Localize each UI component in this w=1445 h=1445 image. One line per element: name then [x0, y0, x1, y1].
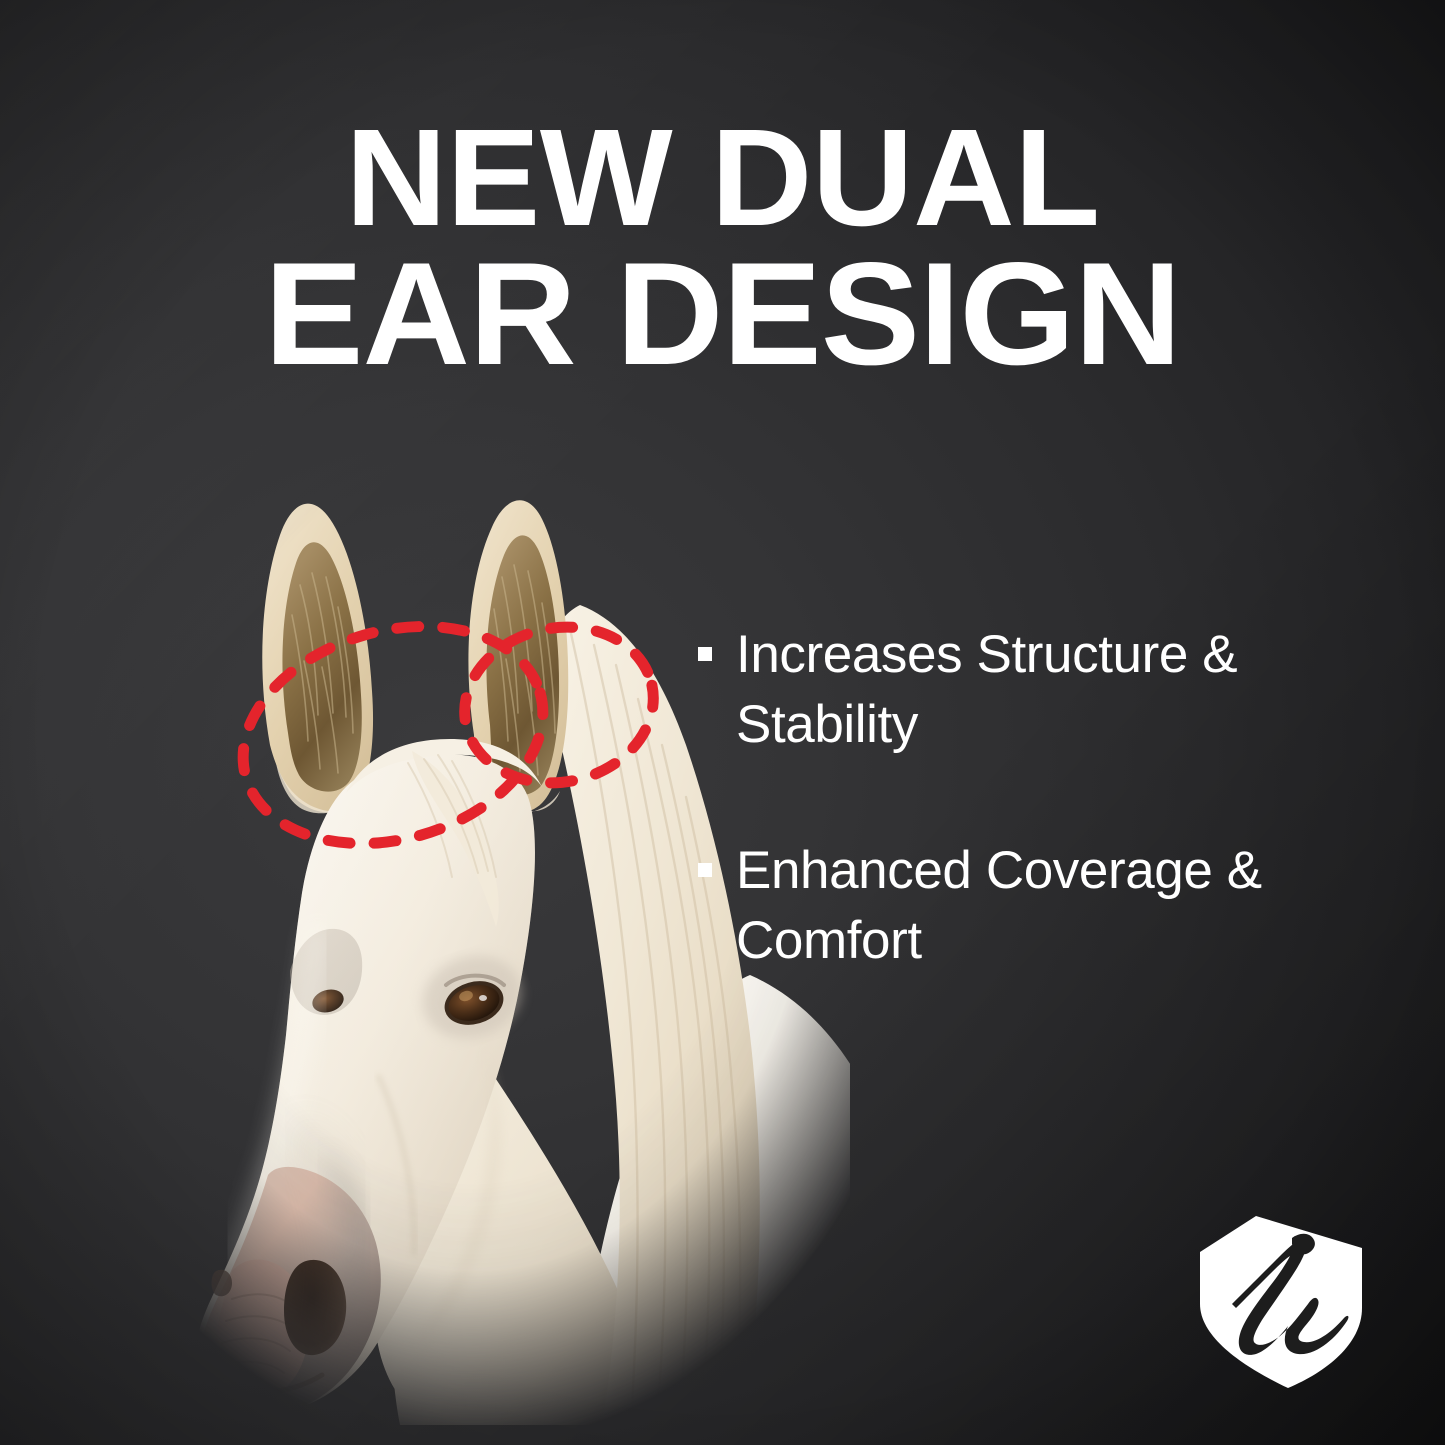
feature-text: Increases Structure & Stability — [736, 620, 1358, 760]
shield-shape — [1200, 1216, 1362, 1388]
list-item: Increases Structure & Stability — [698, 620, 1358, 760]
feature-text: Enhanced Coverage & Comfort — [736, 836, 1358, 976]
horse-ear-left — [262, 504, 373, 814]
page-title: NEW DUAL EAR DESIGN — [246, 112, 1200, 385]
feature-list: Increases Structure & Stability Enhanced… — [698, 620, 1358, 1052]
marketing-graphic: NEW DUAL EAR DESIGN — [0, 0, 1445, 1445]
brand-logo — [1196, 1212, 1366, 1390]
square-bullet-icon — [698, 647, 712, 661]
headline-line-2: EAR DESIGN — [246, 244, 1200, 384]
shield-logo-icon — [1196, 1212, 1366, 1390]
horse-nostril-small — [212, 1270, 233, 1297]
square-bullet-icon — [698, 863, 712, 877]
list-item: Enhanced Coverage & Comfort — [698, 836, 1358, 976]
headline-line-1: NEW DUAL — [246, 112, 1200, 244]
